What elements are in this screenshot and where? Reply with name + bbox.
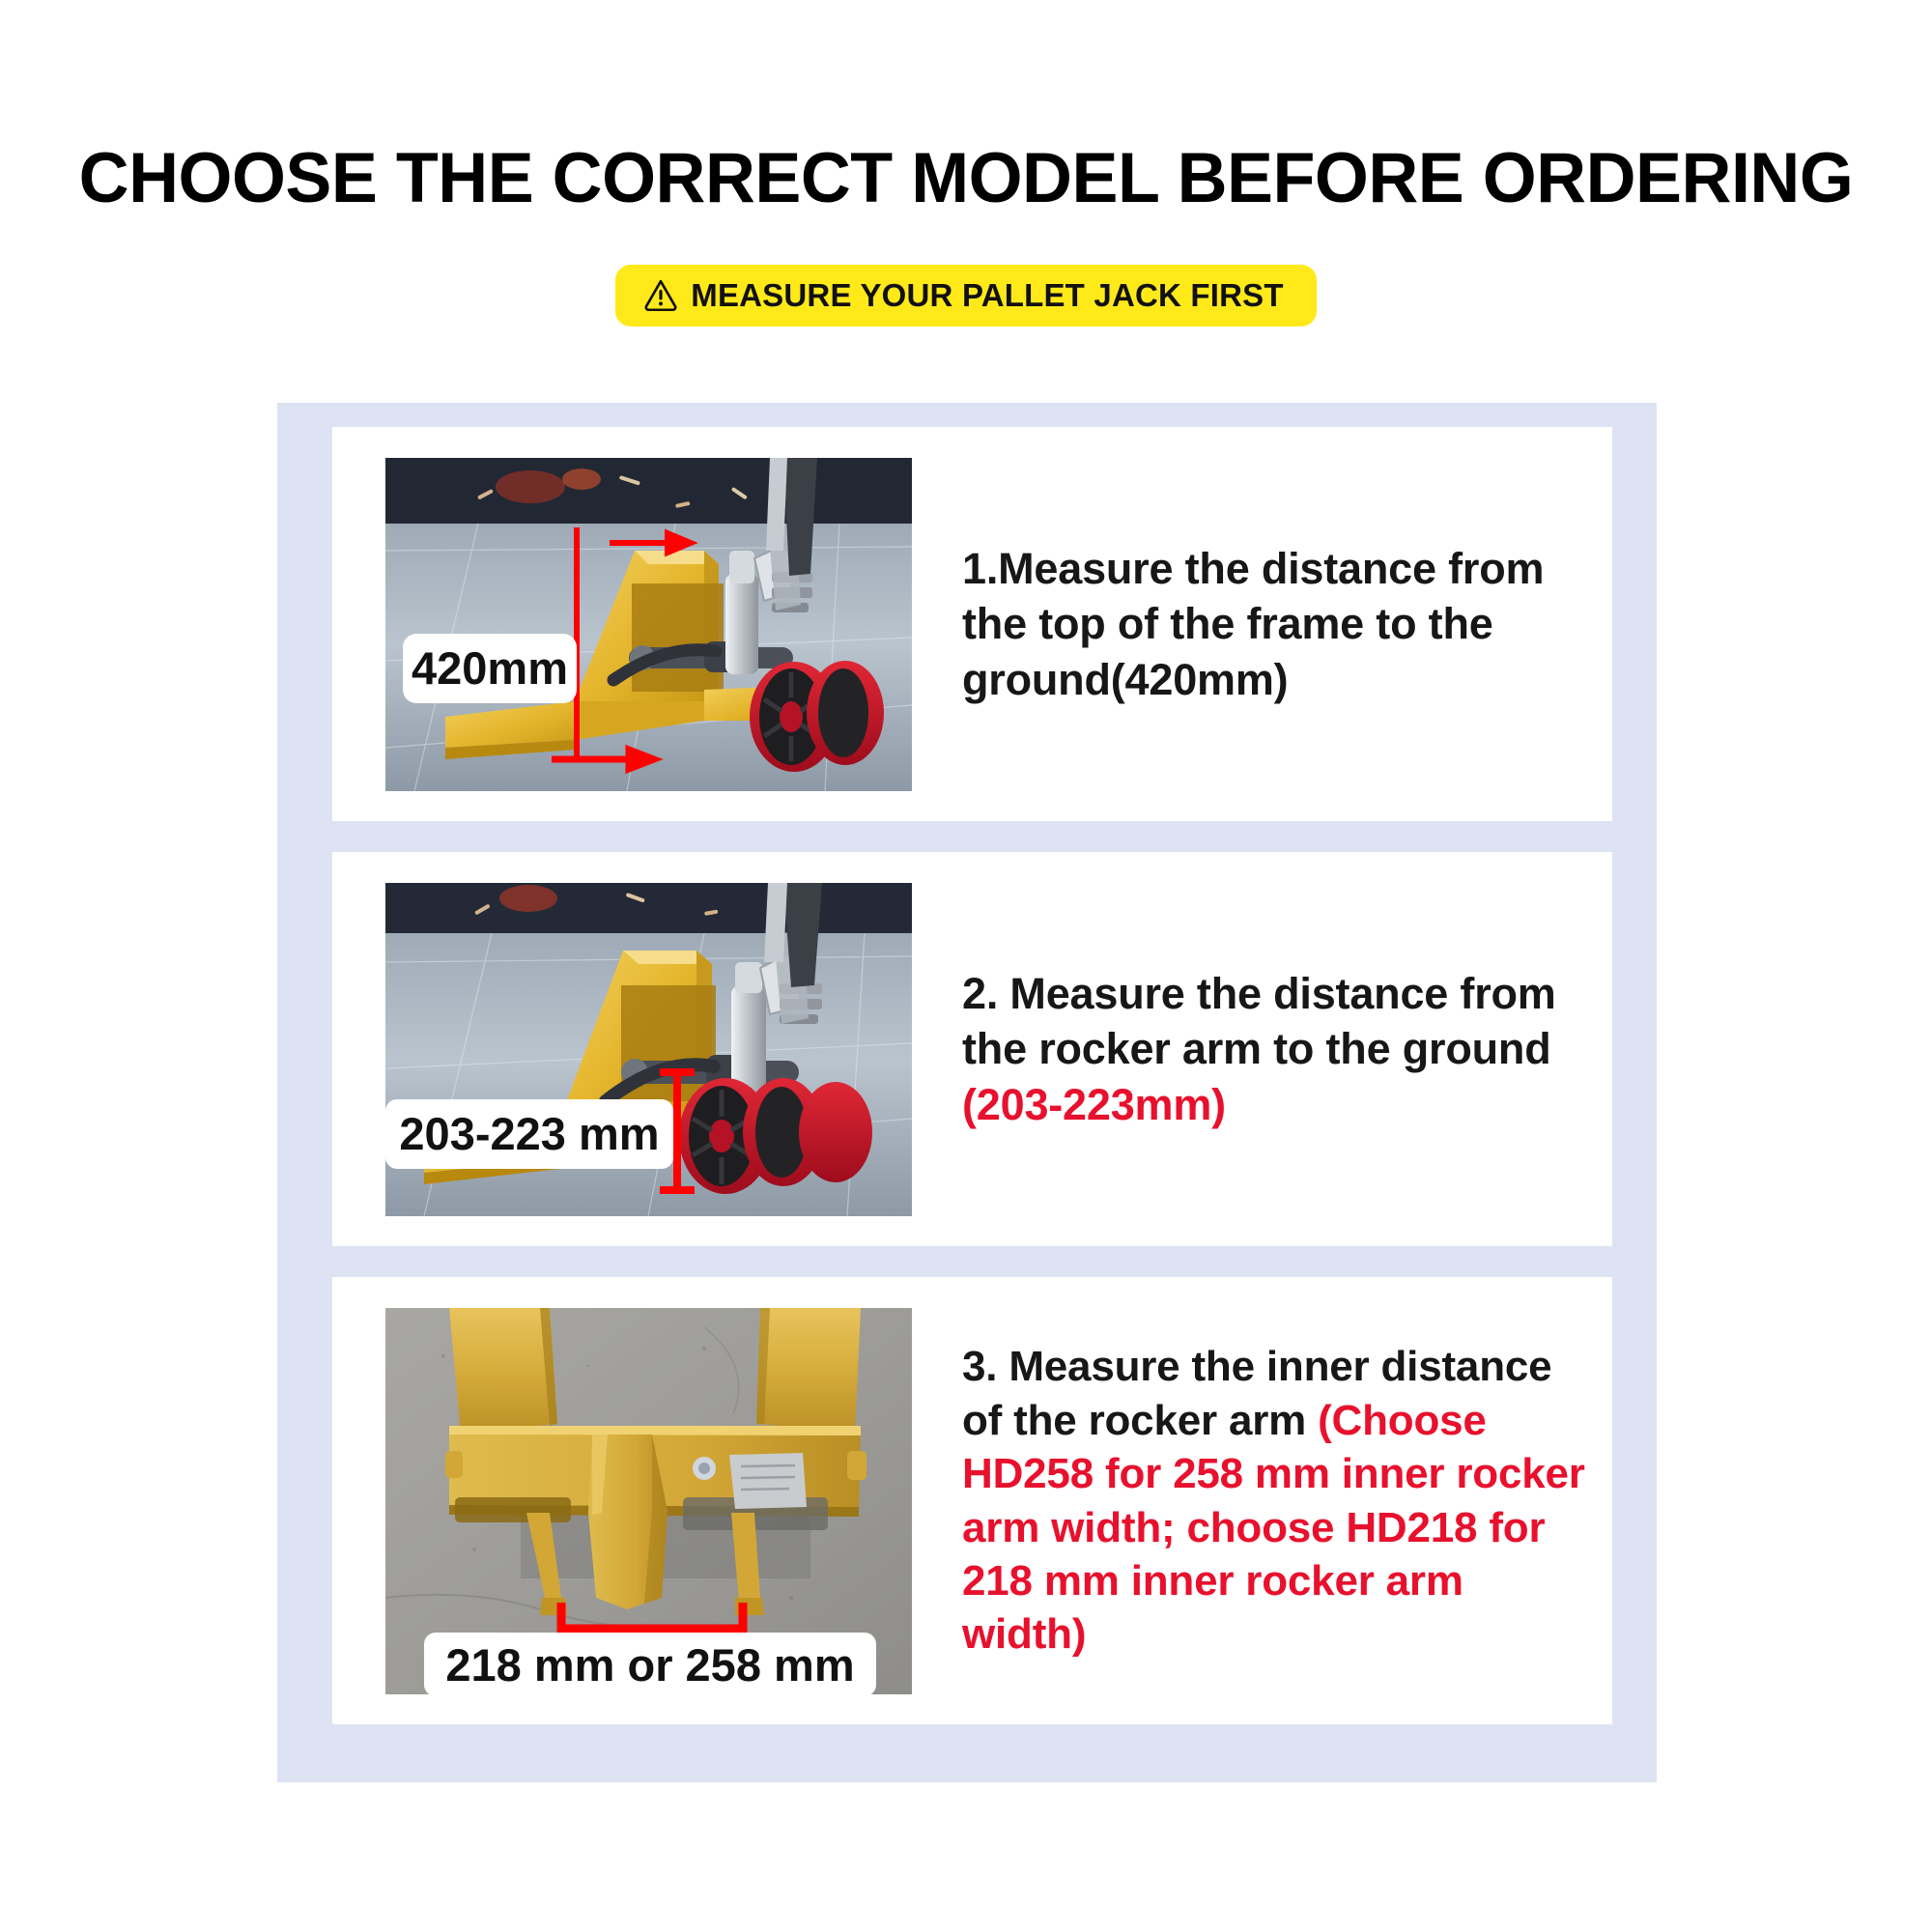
- page-title: CHOOSE THE CORRECT MODEL BEFORE ORDERING: [14, 143, 1918, 213]
- step-card-1: 420mm 1.Measure the distance from the to…: [332, 427, 1612, 821]
- badge-row: MEASURE YOUR PALLET JACK FIRST: [0, 265, 1932, 327]
- svg-text:203-223 mm: 203-223 mm: [399, 1108, 659, 1159]
- step-3-photo: 218 mm or 258 mm: [385, 1308, 912, 1694]
- step-1-text: 1.Measure the distance from the top of t…: [912, 541, 1612, 708]
- step-3-text: 3. Measure the inner distance of the roc…: [912, 1340, 1612, 1662]
- step-2-text: 2. Measure the distance from the rocker …: [912, 966, 1612, 1133]
- steps-frame: 420mm 1.Measure the distance from the to…: [277, 403, 1657, 1782]
- svg-text:420mm: 420mm: [412, 642, 568, 694]
- svg-text:218 mm or 258 mm: 218 mm or 258 mm: [445, 1639, 854, 1690]
- step-card-2: 203-223 mm 2. Measure the distance from …: [332, 852, 1612, 1246]
- measure-chip: 420mm: [403, 634, 577, 703]
- measure-first-badge: MEASURE YOUR PALLET JACK FIRST: [615, 265, 1317, 327]
- step-1-photo: 420mm: [385, 458, 912, 791]
- measure-chip: 218 mm or 258 mm: [424, 1633, 876, 1694]
- measure-chip: 203-223 mm: [385, 1099, 673, 1169]
- step-2-text-highlight: (203-223mm): [962, 1080, 1226, 1129]
- step-2-text-main: 2. Measure the distance from the rocker …: [962, 969, 1556, 1074]
- step-card-3: 218 mm or 258 mm 3. Measure the inner di…: [332, 1277, 1612, 1724]
- badge-label: MEASURE YOUR PALLET JACK FIRST: [691, 279, 1284, 311]
- warning-triangle-icon: [644, 278, 677, 311]
- step-2-photo: 203-223 mm: [385, 883, 912, 1216]
- step-1-text-main: 1.Measure the distance from the top of t…: [962, 544, 1544, 704]
